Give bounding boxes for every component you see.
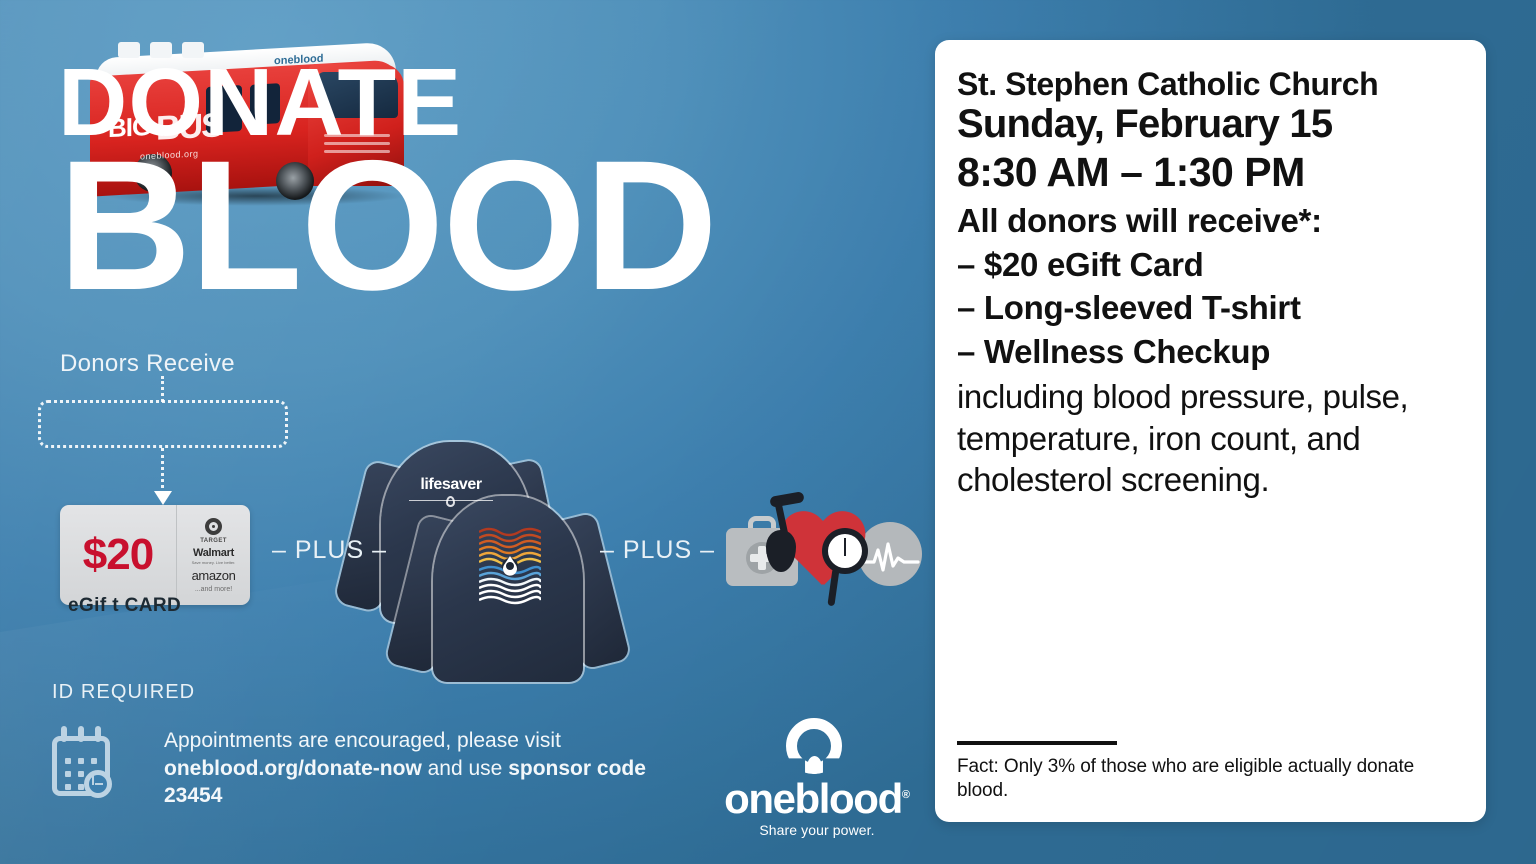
panel-benefit-item: – $20 eGift Card <box>957 243 1464 287</box>
flow-stem-top <box>161 376 164 402</box>
brand-target-label: TARGET <box>200 538 227 544</box>
appointment-instructions: Appointments are encouraged, please visi… <box>164 727 709 810</box>
ekg-line-icon <box>860 540 920 579</box>
event-info-panel: St. Stephen Catholic Church Sunday, Febr… <box>935 40 1486 822</box>
calendar-dot-2 <box>78 758 84 764</box>
donors-receive-label: Donors Receive <box>60 350 235 378</box>
tshirt-image: lifesaver <box>375 438 615 703</box>
bp-gauge-icon <box>822 528 868 574</box>
panel-event-date: Sunday, February 15 <box>957 102 1464 147</box>
oneblood-drop-icon <box>807 756 822 774</box>
brand-walmart-tagline: Save money. Live better. <box>192 560 236 565</box>
panel-footnote: Fact: Only 3% of those who are eligible … <box>957 741 1464 804</box>
appointment-url[interactable]: oneblood.org/donate-now <box>164 757 422 780</box>
registered-mark: ® <box>902 789 910 801</box>
panel-checkup-description: including blood pressure, pulse, tempera… <box>957 376 1464 501</box>
egift-card-image: $20 TARGET Walmart Save money. Live bett… <box>60 505 250 605</box>
panel-event-time: 8:30 AM – 1:30 PM <box>957 146 1464 199</box>
brand-more-label: ...and more! <box>195 586 232 593</box>
flow-dotted-box <box>38 400 288 448</box>
egift-card-caption: eGif t CARD <box>68 595 181 617</box>
calendar-dot-5 <box>78 771 84 777</box>
id-required-label: ID REQUIRED <box>52 681 195 704</box>
panel-benefit-item: – Long-sleeved T-shirt <box>957 286 1464 330</box>
appointment-sponsor-label: sponsor <box>508 757 591 780</box>
bp-gauge-needle <box>844 538 846 556</box>
oneblood-tagline: Share your power. <box>722 822 912 838</box>
appointment-line-1: Appointments are encouraged, please visi… <box>164 729 561 752</box>
clock-hand-minute <box>92 776 94 785</box>
brand-amazon-label: amazon <box>192 568 236 583</box>
panel-receive-heading: All donors will receive*: <box>957 200 1464 243</box>
oneblood-wordmark: oneblood® <box>722 778 912 820</box>
calendar-dot-3 <box>91 758 97 764</box>
headline-blood: BLOOD <box>58 151 918 303</box>
footnote-fact-text: Fact: Only 3% of those who are eligible … <box>957 755 1464 804</box>
calendar-dot-6 <box>65 784 71 790</box>
plus-separator-1: – PLUS – <box>272 536 387 565</box>
shirt-drop-icon <box>446 496 455 507</box>
giftcard-amount: $20 <box>83 530 153 580</box>
oneblood-name-text: oneblood <box>724 775 902 822</box>
poster-headline: DONATE BLOOD <box>58 62 918 302</box>
footnote-divider <box>957 741 1117 745</box>
oneblood-logo: oneblood® Share your power. <box>722 718 912 836</box>
brand-walmart-label: Walmart <box>193 547 234 559</box>
calendar-dot-1 <box>65 758 71 764</box>
target-logo-icon <box>205 518 222 535</box>
giftcard-amount-area: $20 <box>60 505 176 605</box>
giftcard-brands: TARGET Walmart Save money. Live better. … <box>176 505 250 605</box>
calendar-clock-icon <box>52 726 118 796</box>
wellness-checkup-icons <box>718 488 918 608</box>
panel-church-name: St. Stephen Catholic Church <box>957 68 1464 102</box>
flow-arrow-icon <box>154 491 172 505</box>
shirt-wave-graphic <box>479 526 541 606</box>
flow-stem-bottom <box>161 448 164 494</box>
appointment-mid: and use <box>422 757 508 780</box>
calendar-dot-4 <box>65 771 71 777</box>
plus-separator-2: – PLUS – <box>600 536 715 565</box>
oneblood-mark-icon <box>786 718 848 774</box>
shirt-lifesaver-text: lifesaver <box>401 476 501 494</box>
clock-hand-hour <box>95 783 103 785</box>
panel-benefit-item: – Wellness Checkup <box>957 330 1464 374</box>
